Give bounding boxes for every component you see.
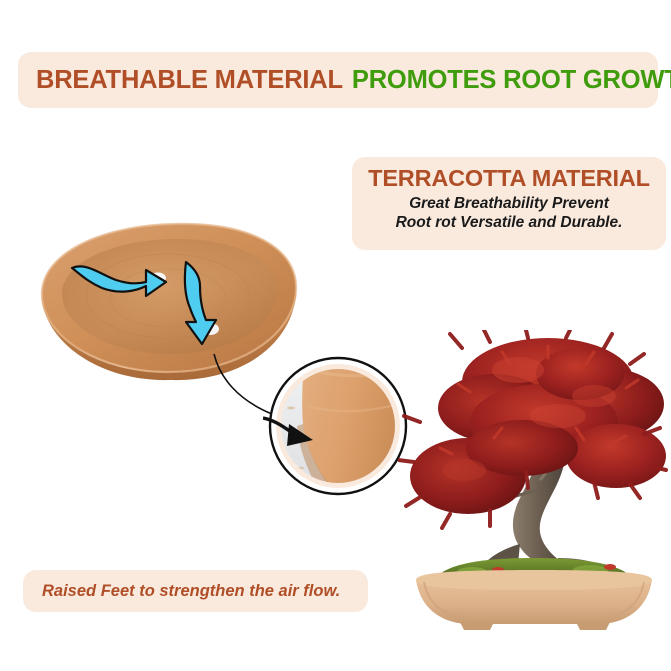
raised-feet-callout: Raised Feet to strengthen the air flow. (23, 570, 368, 612)
raised-feet-text: Raised Feet to strengthen the air flow. (42, 582, 340, 601)
red-maple-bonsai-illustration (398, 330, 671, 630)
infographic-canvas: BREATHABLE MATERIAL PROMOTES ROOT GROWTH… (0, 0, 671, 671)
bonsai-pot-foot-left (460, 622, 494, 630)
bonsai-pot-rim (416, 570, 652, 590)
header-banner: BREATHABLE MATERIAL PROMOTES ROOT GROWTH (18, 52, 658, 108)
material-callout-title: TERRACOTTA MATERIAL (352, 166, 666, 191)
bonsai-pot-foot-right (576, 622, 610, 630)
loupe-speck-1 (287, 407, 295, 410)
bonsai-pot (416, 570, 652, 630)
header-text-secondary: PROMOTES ROOT GROWTH (352, 66, 671, 95)
raised-foot-magnifier (263, 350, 413, 502)
material-callout-subtitle-line2: Root rot Versatile and Durable. (352, 213, 666, 232)
material-callout-subtitle-line1: Great Breathability Prevent (352, 194, 666, 213)
loupe-content (263, 350, 413, 502)
terracotta-material-callout: TERRACOTTA MATERIAL Great Breathability … (352, 157, 666, 250)
header-text-primary: BREATHABLE MATERIAL (36, 66, 343, 95)
